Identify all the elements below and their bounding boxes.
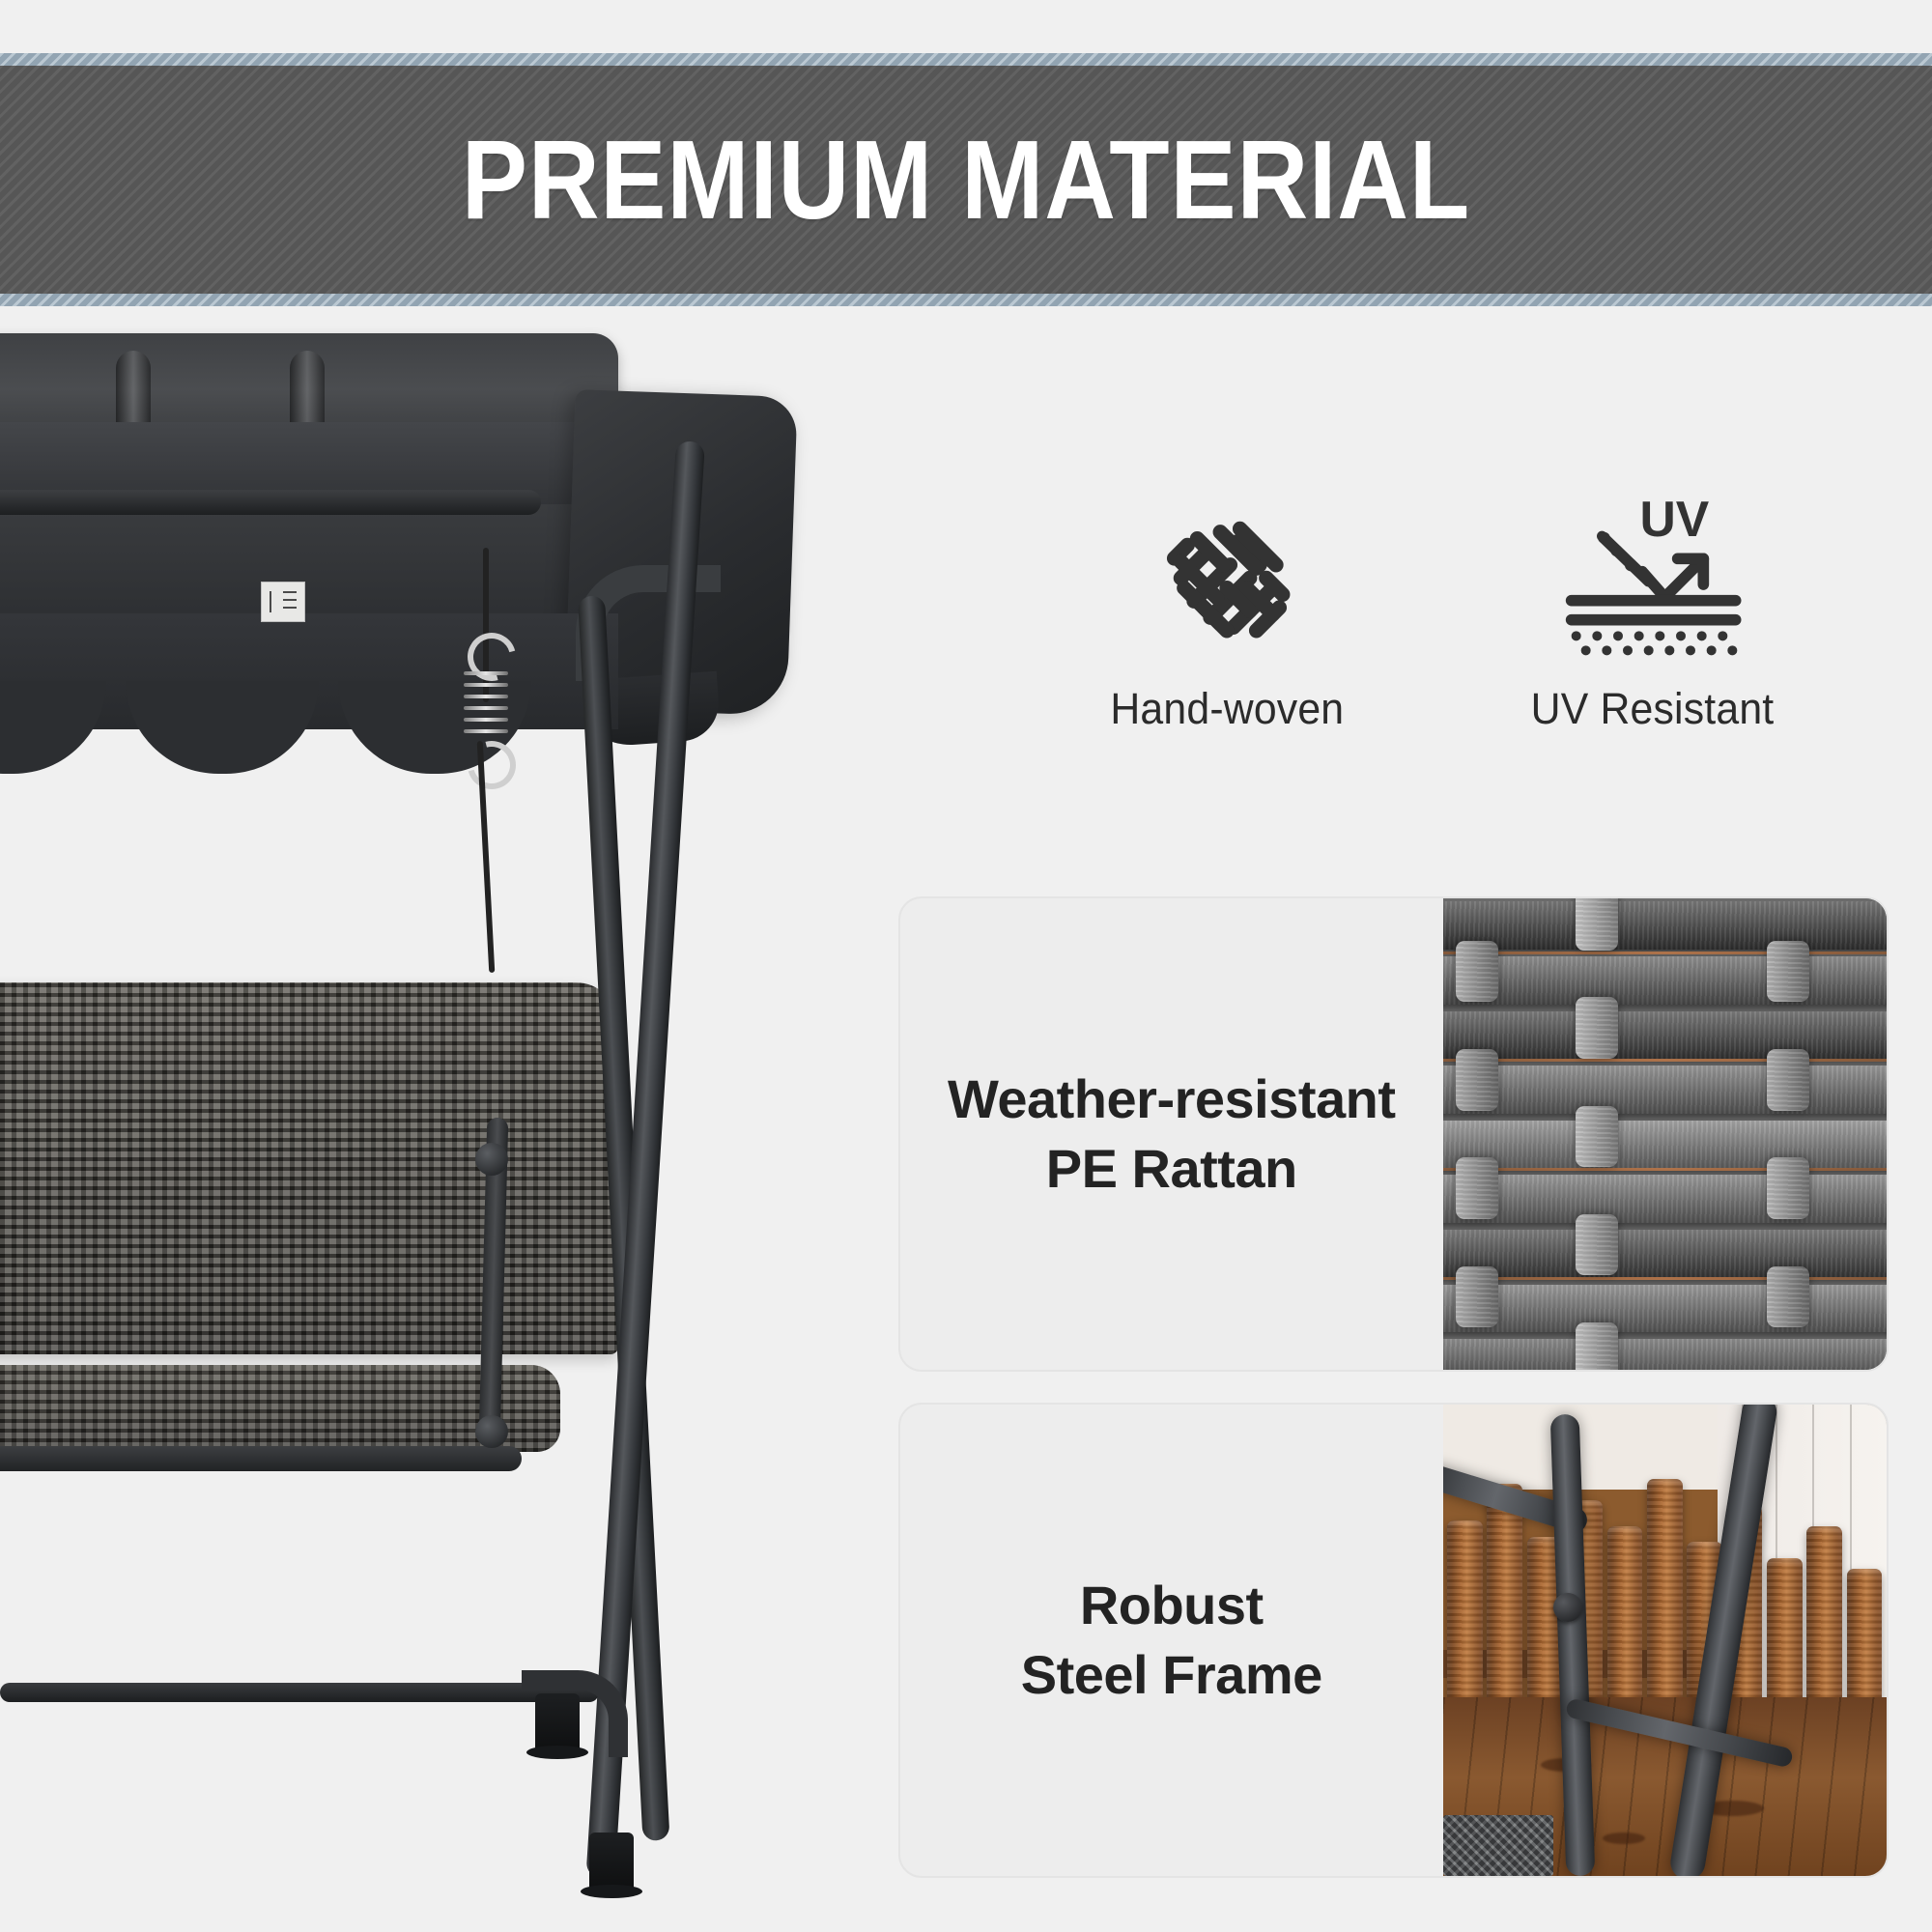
card-text-panel: Weather-resistant PE Rattan xyxy=(900,898,1443,1370)
card-title-line2: PE Rattan xyxy=(1046,1138,1297,1199)
hook-ring xyxy=(459,732,525,798)
frame-foot-cap xyxy=(535,1693,580,1753)
frame-foot-cap xyxy=(589,1833,634,1892)
card-title-line2: Steel Frame xyxy=(1021,1644,1322,1705)
feature-card-pe-rattan[interactable]: Weather-resistant PE Rattan xyxy=(898,896,1889,1372)
product-photo xyxy=(0,306,850,1932)
icon-feature-row: Hand-woven UV xyxy=(1053,483,1826,763)
card-title: Weather-resistant PE Rattan xyxy=(948,1065,1396,1203)
canopy-scallop xyxy=(126,681,319,774)
canopy-scallop xyxy=(0,681,106,774)
canopy-skirt xyxy=(0,613,618,729)
uv-icon-text: UV xyxy=(1639,491,1709,547)
canopy-front-panel xyxy=(0,504,657,630)
page-title: PREMIUM MATERIAL xyxy=(116,124,1816,236)
banner-top-edge xyxy=(0,53,1932,66)
banner-bottom-edge xyxy=(0,294,1932,306)
feature-uv-resistant: UV xyxy=(1478,483,1826,734)
canopy-crossbar xyxy=(0,490,541,515)
bench-front-rail xyxy=(0,1446,522,1471)
care-label-tag xyxy=(261,582,305,622)
page-canvas: PREMIUM MATERIAL xyxy=(0,0,1932,1932)
uv-resistant-icon: UV xyxy=(1555,483,1748,667)
feature-hand-woven: Hand-woven xyxy=(1053,483,1401,734)
feature-label: Hand-woven xyxy=(1110,684,1344,734)
pe-rattan-weave-closeup-photo xyxy=(1443,898,1887,1370)
frame-bottom-crossbar xyxy=(0,1683,599,1702)
card-text-panel: Robust Steel Frame xyxy=(900,1405,1443,1876)
card-title-line1: Robust xyxy=(1080,1575,1264,1635)
card-title-line1: Weather-resistant xyxy=(948,1068,1396,1129)
spring-hook xyxy=(464,666,508,747)
bench-hinge-bolt xyxy=(475,1143,508,1176)
card-title: Robust Steel Frame xyxy=(1021,1571,1322,1709)
rattan-seat-edge xyxy=(1443,1815,1554,1876)
woven-pattern-icon xyxy=(1145,483,1309,667)
header-banner: PREMIUM MATERIAL xyxy=(0,53,1932,306)
feature-label: UV Resistant xyxy=(1530,684,1774,734)
steel-frame-closeup-photo xyxy=(1443,1405,1887,1876)
feature-card-steel-frame[interactable]: Robust Steel Frame xyxy=(898,1403,1889,1878)
bench-hinge-bolt xyxy=(475,1415,508,1448)
bench-backrest-rattan xyxy=(0,982,618,1354)
